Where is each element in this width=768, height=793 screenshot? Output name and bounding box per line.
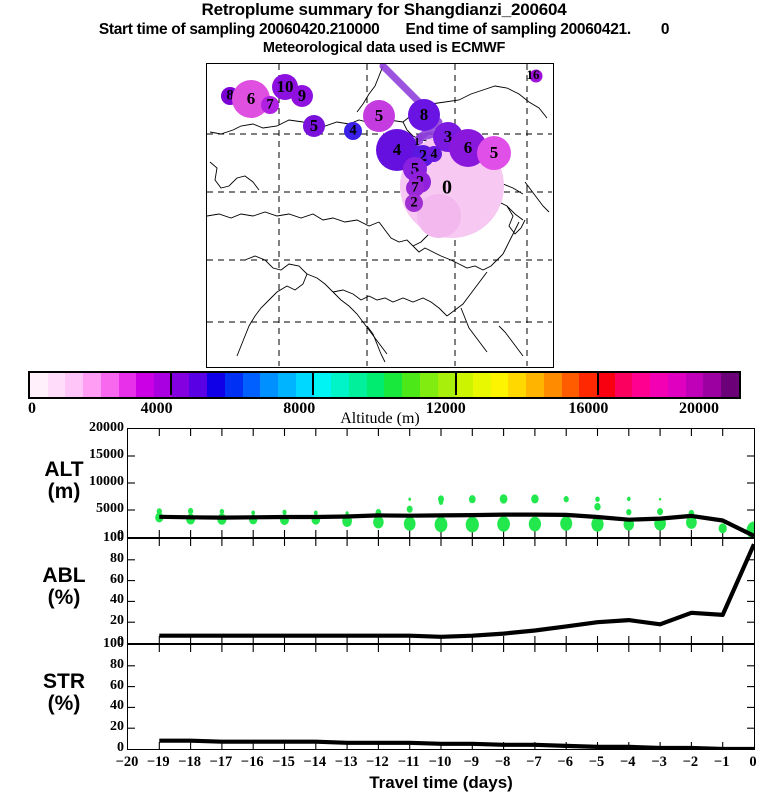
x-axis-tick-labels: −20−19−18−17−16−15−14−13−12−11−10−9−8−7−… [0, 754, 768, 774]
timeseries-area: ALT (m) ABL (%) STR (%) 0500010000150002… [0, 425, 768, 768]
colorbar-tick-label: 20000 [679, 400, 719, 418]
colorbar-swatch [508, 373, 526, 397]
x-tick-label: −1 [714, 754, 730, 771]
y-tick-label: 60 [110, 678, 124, 694]
colorbar-swatch [473, 373, 491, 397]
colorbar-swatch [455, 373, 473, 397]
colorbar-swatch [260, 373, 278, 397]
abl-row-label: ABL (%) [8, 565, 120, 609]
str-label-text: STR [8, 671, 120, 693]
colorbar-swatch [384, 373, 402, 397]
y-tick-label: 40 [110, 698, 124, 714]
plume-marker [477, 136, 511, 170]
x-tick-label: −6 [557, 754, 573, 771]
y-tick-label: 20000 [89, 420, 124, 436]
colorbar-swatch [420, 373, 438, 397]
plume-marker [408, 99, 440, 131]
x-tick-label: −15 [272, 754, 295, 771]
x-tick-label: −8 [495, 754, 511, 771]
x-tick-label: −17 [210, 754, 233, 771]
cluster-marker [500, 494, 508, 503]
colorbar-swatch [579, 373, 597, 397]
str-plot-panel[interactable] [127, 644, 755, 750]
str-unit-text: (%) [8, 693, 120, 715]
colorbar-swatch [597, 373, 615, 397]
cluster-marker [595, 497, 600, 502]
start-time-label: Start time of sampling [99, 21, 255, 38]
cluster-marker [373, 516, 384, 529]
abl-label-text: ABL [8, 565, 120, 587]
end-time-extra: 0 [661, 21, 669, 38]
cluster-marker [251, 510, 255, 515]
cluster-marker [407, 506, 413, 513]
colorbar-swatch [83, 373, 101, 397]
x-tick-label: −7 [526, 754, 542, 771]
abl-plot-panel[interactable] [127, 538, 755, 644]
colorbar-swatch [491, 373, 509, 397]
x-tick-label: −9 [464, 754, 480, 771]
colorbar-swatch [650, 373, 668, 397]
y-tick-label: 100 [103, 636, 124, 652]
colorbar-swatch [296, 373, 314, 397]
colorbar-tick-label: 4000 [141, 400, 173, 418]
x-tick-label: −4 [620, 754, 636, 771]
x-tick-label: −2 [683, 754, 699, 771]
met-data-line: Meteorological data used is ECMWF [0, 39, 768, 57]
alt-plot-panel[interactable] [127, 428, 755, 538]
x-tick-label: −11 [398, 754, 420, 771]
colorbar-swatch [119, 373, 137, 397]
colorbar-swatch [172, 373, 190, 397]
x-tick-label: −3 [651, 754, 667, 771]
page-title: Retroplume summary for Shangdianzi_20060… [0, 0, 768, 20]
x-axis-label: Travel time (days) [127, 773, 755, 793]
cluster-marker [564, 496, 569, 502]
cluster-marker [626, 509, 631, 515]
cluster-marker [404, 517, 416, 531]
x-tick-label: −13 [335, 754, 358, 771]
colorbar-swatch [721, 373, 739, 397]
sampling-time-line: Start time of sampling 20060420.210000En… [0, 20, 768, 39]
y-tick-label: 20 [110, 613, 124, 629]
colorbar-swatch [65, 373, 83, 397]
colorbar-gradient [28, 371, 741, 399]
colorbar-swatch [615, 373, 633, 397]
abl-unit-text: (%) [8, 587, 120, 609]
cluster-marker [157, 508, 162, 514]
plume-marker [363, 100, 395, 132]
y-tick-label: 20 [110, 719, 124, 735]
plume-marker [405, 194, 423, 212]
y-tick-label: 5000 [96, 501, 124, 517]
cluster-marker [408, 498, 411, 501]
cluster-marker [188, 508, 193, 514]
y-tick-label: 40 [110, 592, 124, 608]
series-line [159, 544, 754, 637]
x-tick-label: −20 [116, 754, 139, 771]
y-tick-label: 80 [110, 551, 124, 567]
cluster-marker [659, 498, 661, 501]
colorbar-swatch [30, 373, 48, 397]
cluster-marker [627, 497, 631, 502]
cluster-marker [657, 508, 663, 515]
cluster-marker [719, 523, 727, 533]
x-tick-label: −10 [429, 754, 452, 771]
cluster-marker [531, 494, 539, 503]
colorbar-swatch [402, 373, 420, 397]
cluster-marker [466, 517, 479, 533]
abl-plot-svg [128, 539, 754, 643]
colorbar-swatch [367, 373, 385, 397]
y-tick-label: 80 [110, 657, 124, 673]
cluster-marker [282, 510, 286, 515]
colorbar-swatch [189, 373, 207, 397]
plume-marker [344, 122, 362, 140]
colorbar-swatch [154, 373, 172, 397]
colorbar-swatch [101, 373, 119, 397]
x-tick-label: −18 [178, 754, 201, 771]
x-tick-label: −16 [241, 754, 264, 771]
colorbar-tick-label: 0 [28, 400, 36, 418]
colorbar-swatch [544, 373, 562, 397]
start-time-value: 20060420.210000 [259, 21, 380, 38]
colorbar-swatch [48, 373, 66, 397]
colorbar-tick-label: 16000 [568, 400, 608, 418]
colorbar-swatch [686, 373, 704, 397]
cluster-marker [529, 517, 541, 532]
colorbar-swatch [632, 373, 650, 397]
x-tick-label: −19 [147, 754, 170, 771]
cluster-marker [314, 510, 318, 515]
cluster-marker [438, 495, 444, 502]
y-tick-label: 100 [103, 530, 124, 546]
title-block: Retroplume summary for Shangdianzi_20060… [0, 0, 768, 57]
colorbar-swatch [314, 373, 332, 397]
end-time-label: End time of sampling [406, 21, 557, 38]
colorbar-swatch [526, 373, 544, 397]
colorbar-swatch [278, 373, 296, 397]
str-row-label: STR (%) [8, 671, 120, 715]
cluster-marker [594, 503, 600, 511]
x-tick-label: −5 [589, 754, 605, 771]
colorbar-swatch [349, 373, 367, 397]
colorbar-swatch [207, 373, 225, 397]
y-tick-label: 10000 [89, 474, 124, 490]
cluster-marker [560, 516, 572, 530]
cluster-marker [469, 495, 476, 503]
end-time-value: 20060421. [560, 21, 631, 38]
colorbar-swatch [331, 373, 349, 397]
cluster-marker [435, 517, 448, 532]
x-tick-label: −14 [303, 754, 326, 771]
colorbar-swatch [562, 373, 580, 397]
colorbar-swatch [243, 373, 261, 397]
colorbar-swatch [438, 373, 456, 397]
x-tick-label: −12 [366, 754, 389, 771]
plume-marker [291, 85, 313, 107]
y-tick-label: 60 [110, 572, 124, 588]
y-tick-label: 15000 [89, 447, 124, 463]
alt-plot-svg [128, 429, 754, 537]
retroplume-map[interactable]: 86671095458346512452720 16 [206, 63, 554, 368]
x-tick-label: 0 [749, 754, 756, 771]
plume-marker [426, 146, 442, 162]
plume-halo [417, 194, 461, 238]
cluster-marker [220, 509, 225, 514]
colorbar-swatch [703, 373, 721, 397]
series-line [159, 741, 754, 749]
plume-marker [303, 115, 325, 137]
str-plot-svg [128, 645, 754, 749]
colorbar-swatch [225, 373, 243, 397]
plume-marker [261, 96, 279, 114]
map-corner-marker [530, 70, 543, 83]
colorbar-swatch [136, 373, 154, 397]
cluster-marker [497, 516, 510, 531]
colorbar-swatch [668, 373, 686, 397]
